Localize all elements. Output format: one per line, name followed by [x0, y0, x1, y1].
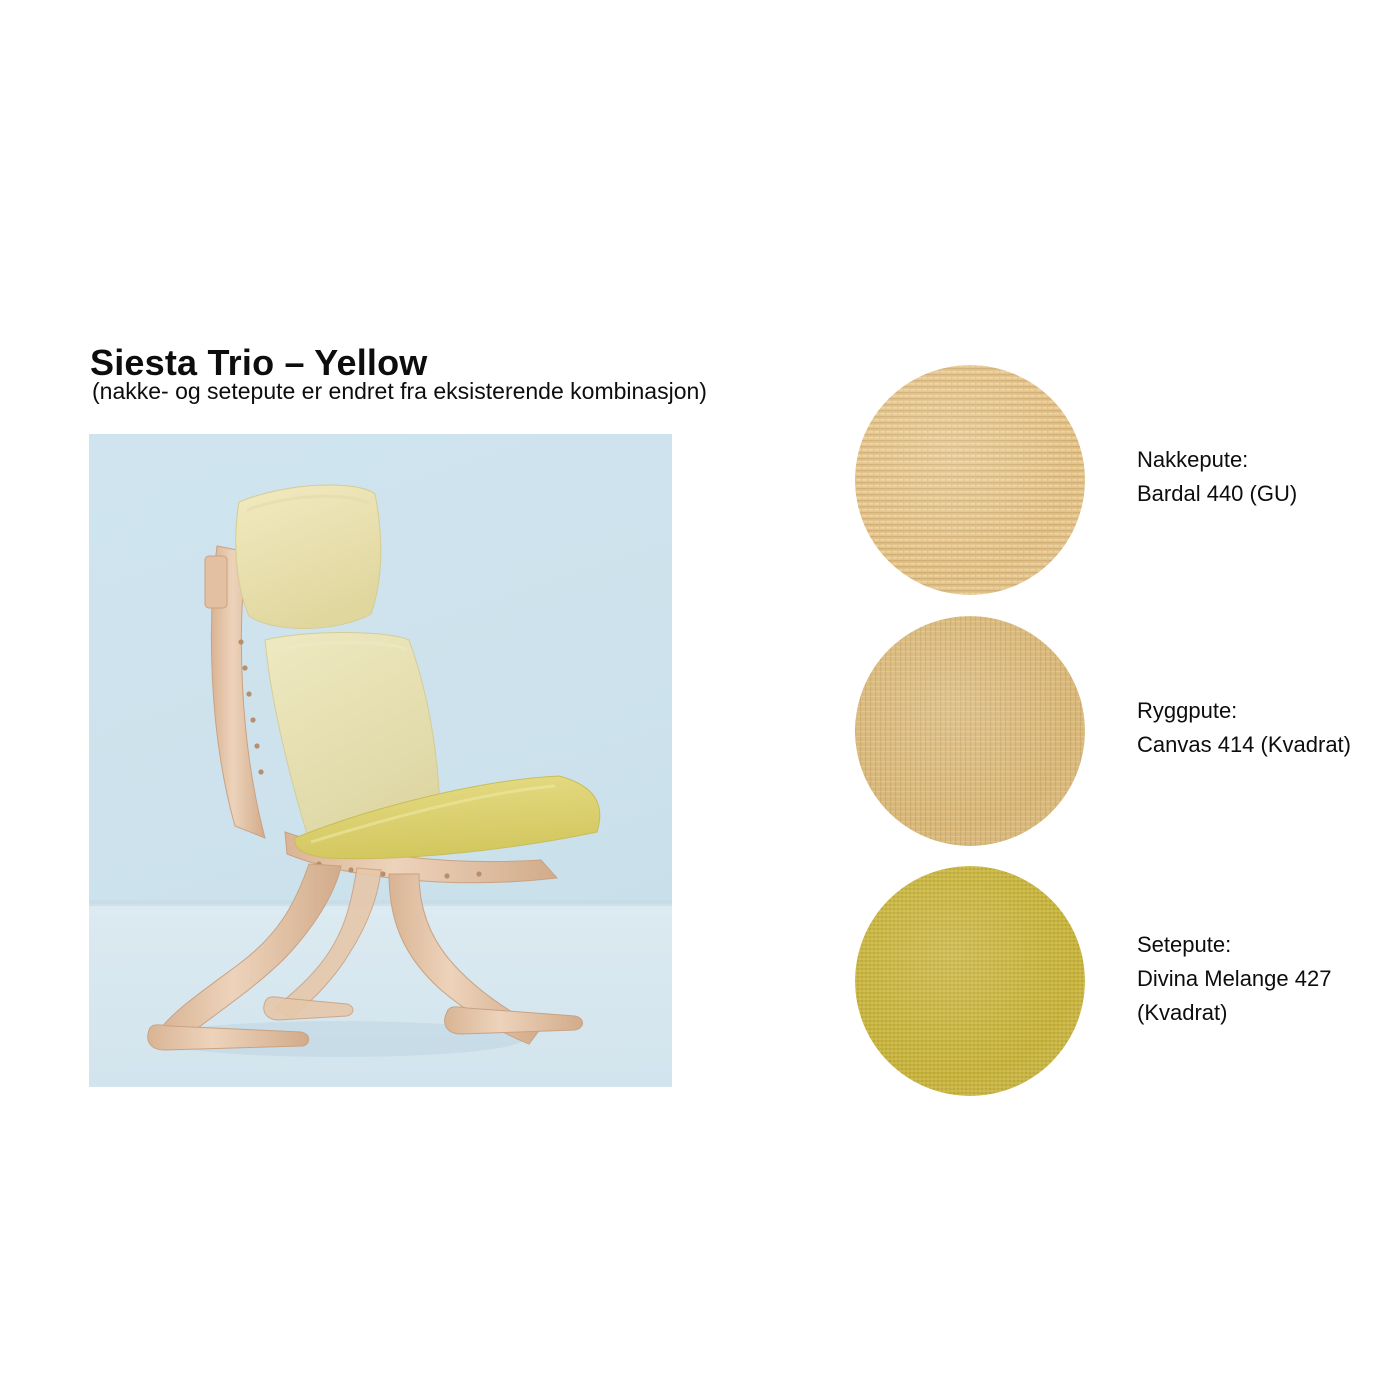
setepute-label-line1: Setepute:	[1137, 928, 1377, 962]
ryggpute-swatch	[855, 616, 1085, 846]
nakkepute-swatch-texture	[855, 365, 1085, 595]
nakkepute-swatch	[855, 365, 1085, 595]
swatch-row-ryggpute: Ryggpute: Canvas 414 (Kvadrat)	[855, 616, 1375, 856]
setepute-label-line2: Divina Melange 427	[1137, 962, 1377, 996]
setepute-swatch-texture	[855, 866, 1085, 1096]
setepute-swatch	[855, 866, 1085, 1096]
page-subtitle: (nakke- og setepute er endret fra eksist…	[92, 378, 707, 405]
swatch-row-setepute: Setepute: Divina Melange 427 (Kvadrat)	[855, 866, 1375, 1106]
swatch-row-nakkepute: Nakkepute: Bardal 440 (GU)	[855, 365, 1375, 605]
ryggpute-label-line2: Canvas 414 (Kvadrat)	[1137, 728, 1377, 762]
slide-page: Siesta Trio – Yellow (nakke- og setepute…	[0, 0, 1400, 1400]
setepute-label: Setepute: Divina Melange 427 (Kvadrat)	[1137, 928, 1377, 1030]
nakkepute-label: Nakkepute: Bardal 440 (GU)	[1137, 443, 1377, 511]
nakkepute-label-line1: Nakkepute:	[1137, 443, 1377, 477]
setepute-label-line3: (Kvadrat)	[1137, 996, 1377, 1030]
chair-illustration	[89, 434, 672, 1087]
ryggpute-label-line1: Ryggpute:	[1137, 694, 1377, 728]
nakkepute-label-line2: Bardal 440 (GU)	[1137, 477, 1377, 511]
chair-photo	[89, 434, 672, 1087]
ryggpute-label: Ryggpute: Canvas 414 (Kvadrat)	[1137, 694, 1377, 762]
ryggpute-swatch-texture	[855, 616, 1085, 846]
